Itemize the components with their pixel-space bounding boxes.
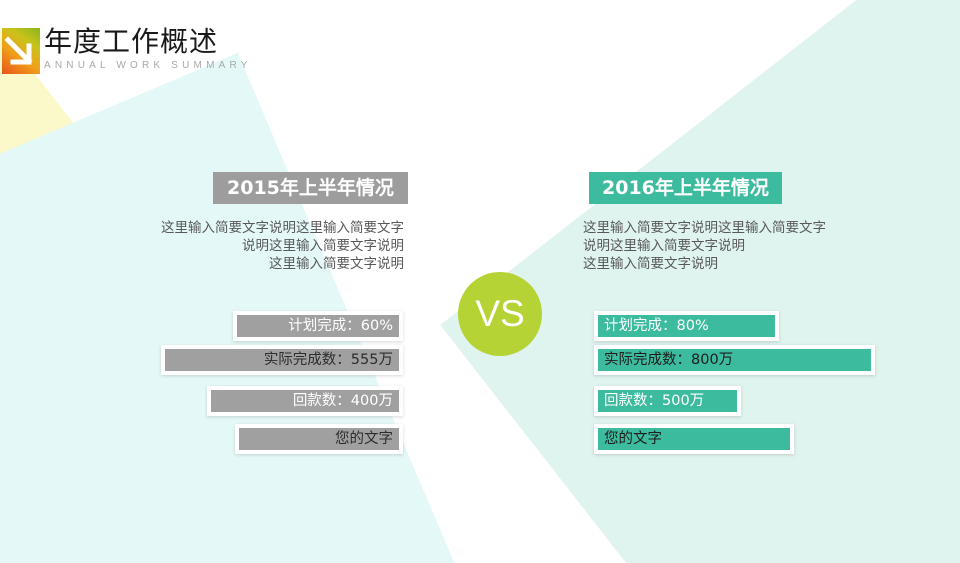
bar-label: 实际完成数：800万 [604, 349, 733, 371]
vs-badge: VS [458, 272, 542, 356]
bar-row[interactable]: 实际完成数：555万 [161, 345, 403, 375]
bar-label: 回款数：400万 [293, 390, 393, 412]
slide-canvas: 年度工作概述 ANNUAL WORK SUMMARY 2015年上半年情况 这里… [0, 0, 960, 563]
vs-label: VS [458, 272, 542, 356]
bar-row[interactable]: 回款数：500万 [594, 386, 741, 416]
bar-row[interactable]: 您的文字 [235, 424, 403, 454]
bar-label: 回款数：500万 [604, 390, 704, 412]
gradient-arrow-down-right-icon [2, 28, 40, 74]
bar-label: 计划完成：60% [288, 315, 393, 337]
bar-label: 实际完成数：555万 [264, 349, 393, 371]
bar-row[interactable]: 计划完成：60% [233, 311, 403, 341]
slide-header: 年度工作概述 ANNUAL WORK SUMMARY [0, 0, 960, 92]
bar-row[interactable]: 您的文字 [594, 424, 794, 454]
bar-label: 计划完成：80% [604, 315, 709, 337]
page-subtitle: ANNUAL WORK SUMMARY [44, 60, 252, 72]
bar-row[interactable]: 回款数：400万 [207, 386, 403, 416]
bar-row[interactable]: 实际完成数：800万 [594, 345, 875, 375]
page-title: 年度工作概述 [44, 26, 252, 58]
bar-row[interactable]: 计划完成：80% [594, 311, 779, 341]
title-block: 年度工作概述 ANNUAL WORK SUMMARY [44, 26, 252, 72]
bar-label: 您的文字 [335, 428, 393, 450]
bar-label: 您的文字 [604, 428, 662, 450]
